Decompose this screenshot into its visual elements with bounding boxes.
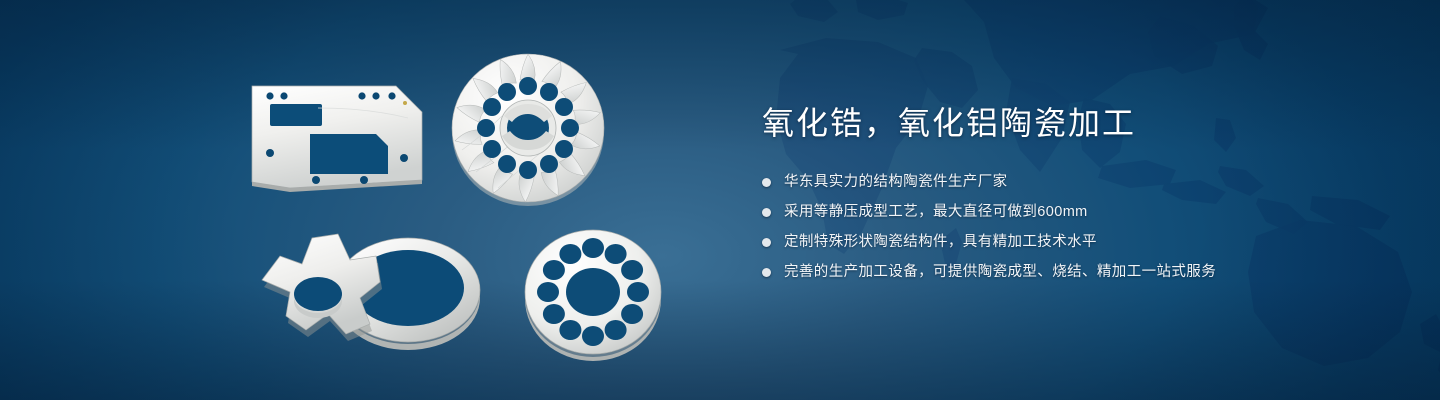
- bullet-dot-icon: [762, 178, 771, 187]
- ceramic-perforated-disc-image: [518, 222, 668, 362]
- list-item: 定制特殊形状陶瓷结构件，具有精加工技术水平: [762, 231, 1382, 253]
- ceramic-cross-and-ring-image: [248, 222, 498, 362]
- banner-text-block: 氧化锆，氧化铝陶瓷加工 华东具实力的结构陶瓷件生产厂家 采用等静压成型工艺，最大…: [762, 103, 1382, 291]
- feature-bullet-list: 华东具实力的结构陶瓷件生产厂家 采用等静压成型工艺，最大直径可做到600mm 定…: [762, 171, 1382, 283]
- ceramic-impeller-image: [448, 48, 608, 208]
- product-photo-cluster: [0, 0, 740, 400]
- list-item: 华东具实力的结构陶瓷件生产厂家: [762, 171, 1382, 193]
- bullet-dot-icon: [762, 268, 771, 277]
- bullet-text: 采用等静压成型工艺，最大直径可做到600mm: [784, 201, 1088, 223]
- list-item: 采用等静压成型工艺，最大直径可做到600mm: [762, 201, 1382, 223]
- bullet-dot-icon: [762, 238, 771, 247]
- bullet-dot-icon: [762, 208, 771, 217]
- bullet-text: 完善的生产加工设备，可提供陶瓷成型、烧结、精加工一站式服务: [784, 261, 1216, 283]
- list-item: 完善的生产加工设备，可提供陶瓷成型、烧结、精加工一站式服务: [762, 261, 1382, 283]
- bullet-text: 华东具实力的结构陶瓷件生产厂家: [784, 171, 1008, 193]
- banner-headline: 氧化锆，氧化铝陶瓷加工: [762, 103, 1382, 143]
- bullet-text: 定制特殊形状陶瓷结构件，具有精加工技术水平: [784, 231, 1097, 253]
- ceramic-plate-image: [248, 78, 438, 198]
- hero-banner: 氧化锆，氧化铝陶瓷加工 华东具实力的结构陶瓷件生产厂家 采用等静压成型工艺，最大…: [0, 0, 1440, 400]
